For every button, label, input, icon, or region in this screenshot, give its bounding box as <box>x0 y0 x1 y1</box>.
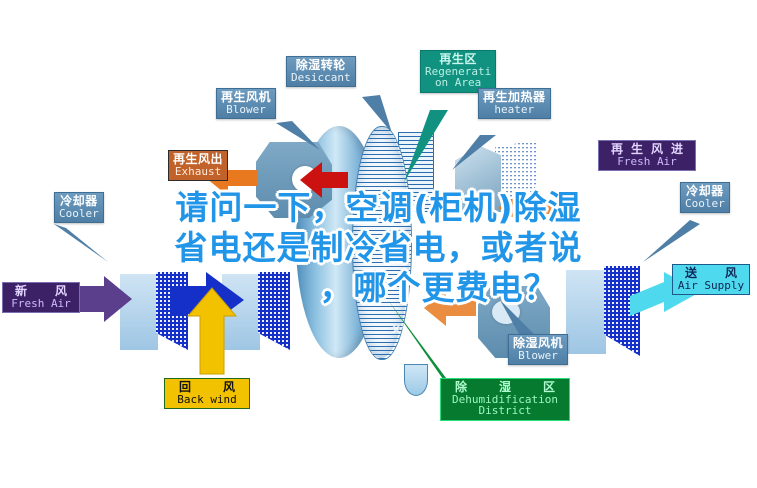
label-desiccant-rotor-cn: 除湿转轮 <box>291 59 351 72</box>
label-regeneration-heater-cn: 再生加热器 <box>483 91 546 104</box>
label-regeneration-air-inlet-en: Fresh Air <box>603 156 691 168</box>
label-regeneration-exhaust: 再生风出 Exhaust <box>168 150 228 181</box>
label-desiccant-rotor: 除湿转轮 Desiccant <box>286 56 356 87</box>
label-regeneration-exhaust-en: Exhaust <box>173 166 223 178</box>
label-regeneration-blower-en: Blower <box>221 104 271 116</box>
label-regeneration-blower: 再生风机 Blower <box>216 88 276 119</box>
label-back-wind-cn: 回 风 <box>169 381 245 394</box>
label-back-wind: 回 风 Back wind <box>164 378 250 409</box>
overlay-question-text: 请问一下，空调(柜机)除湿 省电还是制冷省电，或者说 ，哪个更费电？ <box>0 188 757 308</box>
label-back-wind-en: Back wind <box>169 394 245 406</box>
label-regeneration-air-inlet-cn: 再生风进 <box>603 143 691 156</box>
label-dehumidification-blower: 除湿风机 Blower <box>508 334 568 365</box>
label-regeneration-blower-cn: 再生风机 <box>221 91 271 104</box>
label-dehumidification-district-en2: District <box>445 405 565 417</box>
label-regeneration-heater: 再生加热器 heater <box>478 88 551 119</box>
overlay-line-2: 省电还是制冷省电，或者说 <box>0 228 757 268</box>
label-regeneration-air-inlet: 再生风进 Fresh Air <box>598 140 696 171</box>
label-dehumidification-district: 除 湿 区 Dehumidification District <box>440 378 570 421</box>
label-dehumidification-blower-en: Blower <box>513 350 563 362</box>
overlay-line-1: 请问一下，空调(柜机)除湿 <box>0 188 757 228</box>
overlay-line-3: ，哪个更费电？ <box>0 268 757 308</box>
label-dehumidification-district-cn: 除 湿 区 <box>445 381 565 394</box>
label-dehumidification-blower-cn: 除湿风机 <box>513 337 563 350</box>
label-regeneration-heater-en: heater <box>483 104 546 116</box>
label-regeneration-exhaust-cn: 再生风出 <box>173 153 223 166</box>
diagram-canvas: xinxiang 除湿转轮 Desiccant 再生风机 Blower 再生区 … <box>0 0 757 488</box>
label-regeneration-area: 再生区 Regenerati on Area <box>420 50 496 93</box>
label-desiccant-rotor-en: Desiccant <box>291 72 351 84</box>
label-regeneration-area-cn: 再生区 <box>425 53 491 66</box>
